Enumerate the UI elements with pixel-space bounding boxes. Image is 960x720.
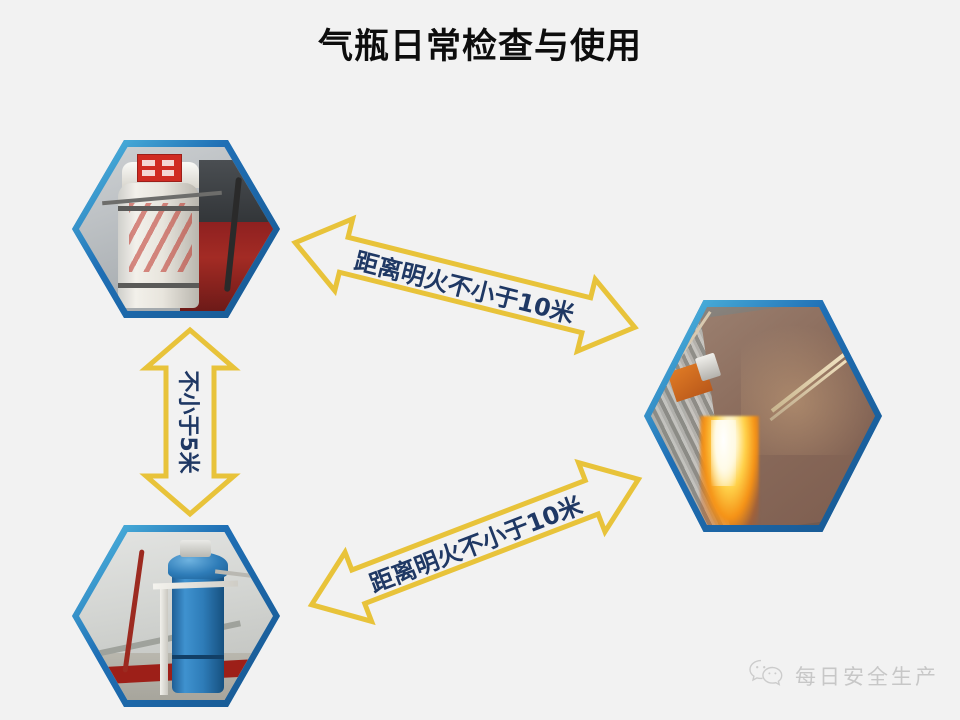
slide-canvas: 气瓶日常检查与使用: [0, 0, 960, 720]
cylinder-valve: [180, 540, 211, 557]
photo-white-cylinder[interactable]: [72, 140, 280, 318]
double-arrow-shape: [286, 207, 644, 363]
watermark: 每日安全生产: [748, 658, 939, 693]
arrow-vertical-distance[interactable]: 不小于5米: [138, 326, 242, 518]
support-post: [160, 584, 168, 695]
double-arrow-shape: [146, 330, 234, 514]
photo-blue-cylinder[interactable]: [72, 525, 280, 707]
oxygen-cylinder-ring: [172, 655, 224, 659]
photo-cutting-flame[interactable]: [644, 300, 882, 532]
watermark-text: 每日安全生产: [795, 661, 939, 691]
cylinder-red-marking: [129, 203, 191, 272]
flame-core: [711, 420, 736, 485]
red-warning-sign: [137, 154, 182, 182]
double-arrow-shape: [298, 445, 651, 640]
wechat-icon: [748, 658, 786, 693]
arrow-top-distance[interactable]: 距离明火不小于10米: [282, 218, 648, 352]
page-title: 气瓶日常检查与使用: [0, 18, 960, 69]
cylinder-band-upper: [118, 206, 199, 211]
cylinder-band-lower: [118, 283, 199, 288]
arrow-bottom-distance[interactable]: 距离明火不小于10米: [292, 462, 658, 622]
